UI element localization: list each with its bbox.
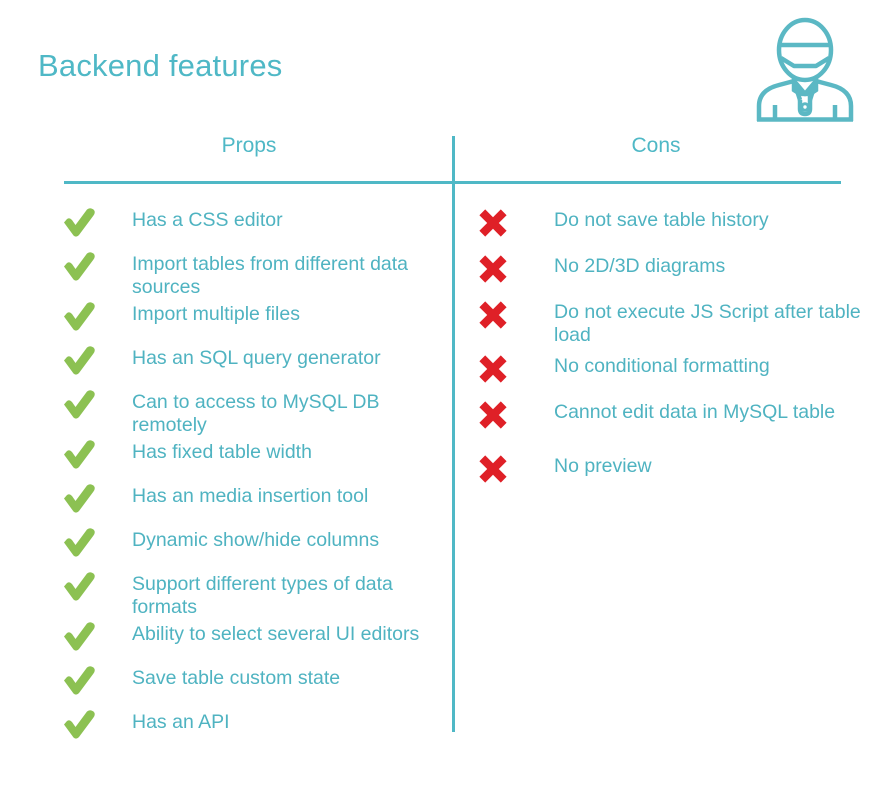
check-icon (62, 302, 96, 332)
check-icon (62, 250, 106, 282)
check-icon (62, 620, 106, 652)
cons-item-label: No 2D/3D diagrams (526, 252, 725, 278)
cons-item: No conditional formatting (478, 352, 878, 398)
check-icon (62, 300, 106, 332)
props-item: Has an media insertion tool (62, 482, 452, 526)
check-icon (62, 526, 106, 558)
column-header-cons: Cons (470, 134, 842, 158)
props-item: Has fixed table width (62, 438, 452, 482)
check-icon (62, 388, 106, 420)
props-item: Has an SQL query generator (62, 344, 452, 388)
props-item: Dynamic show/hide columns (62, 526, 452, 570)
check-icon (62, 390, 96, 420)
check-icon (62, 206, 106, 238)
cons-item-label: Do not save table history (526, 206, 769, 232)
props-item-label: Import multiple files (106, 300, 300, 326)
cons-item: No preview (478, 452, 878, 498)
cons-item: Do not execute JS Script after table loa… (478, 298, 878, 352)
props-item: Import multiple files (62, 300, 452, 344)
slide-canvas: Backend features Pro (0, 0, 892, 812)
props-item-label: Has fixed table width (106, 438, 312, 464)
page-title: Backend features (38, 48, 282, 84)
cross-icon (478, 354, 508, 384)
props-list: Has a CSS editorImport tables from diffe… (62, 206, 452, 752)
check-icon (62, 570, 106, 602)
props-item-label: Has an API (106, 708, 230, 734)
props-item: Ability to select several UI editors (62, 620, 452, 664)
check-icon (62, 482, 106, 514)
check-icon (62, 440, 96, 470)
cross-icon (478, 206, 526, 238)
cross-icon (478, 252, 526, 284)
props-item-label: Support different types of data formats (106, 570, 452, 619)
cross-icon (478, 208, 508, 238)
props-item: Has an API (62, 708, 452, 752)
props-item: Import tables from different data source… (62, 250, 452, 300)
props-item: Can to access to MySQL DB remotely (62, 388, 452, 438)
column-divider (452, 136, 455, 732)
cons-item-label: Do not execute JS Script after table loa… (526, 298, 878, 347)
check-icon (62, 708, 106, 740)
cons-item-label: Cannot edit data in MySQL table (526, 398, 835, 424)
props-item-label: Dynamic show/hide columns (106, 526, 379, 552)
check-icon (62, 664, 106, 696)
cons-item: Cannot edit data in MySQL table (478, 398, 878, 452)
check-icon (62, 666, 96, 696)
cross-icon (478, 254, 508, 284)
props-item-label: Can to access to MySQL DB remotely (106, 388, 452, 437)
cross-icon (478, 352, 526, 384)
check-icon (62, 438, 106, 470)
cross-icon (478, 298, 526, 330)
cons-item-label: No conditional formatting (526, 352, 770, 378)
cons-item-label: No preview (526, 452, 652, 478)
check-icon (62, 346, 96, 376)
cross-icon (478, 400, 508, 430)
cross-icon (478, 300, 508, 330)
cross-icon (478, 454, 508, 484)
props-item-label: Save table custom state (106, 664, 340, 690)
cross-icon (478, 452, 526, 484)
props-item: Has a CSS editor (62, 206, 452, 250)
check-icon (62, 622, 96, 652)
check-icon (62, 484, 96, 514)
props-item-label: Has an media insertion tool (106, 482, 368, 508)
props-item-label: Has an SQL query generator (106, 344, 381, 370)
column-header-props: Props (64, 134, 434, 158)
doctor-icon (753, 14, 857, 122)
check-icon (62, 572, 96, 602)
check-icon (62, 344, 106, 376)
cons-list: Do not save table historyNo 2D/3D diagra… (478, 206, 878, 498)
cons-item: No 2D/3D diagrams (478, 252, 878, 298)
check-icon (62, 710, 96, 740)
props-item: Save table custom state (62, 664, 452, 708)
props-item: Support different types of data formats (62, 570, 452, 620)
cross-icon (478, 398, 526, 430)
props-item-label: Has a CSS editor (106, 206, 283, 232)
check-icon (62, 252, 96, 282)
check-icon (62, 528, 96, 558)
props-item-label: Ability to select several UI editors (106, 620, 419, 646)
props-item-label: Import tables from different data source… (106, 250, 452, 299)
cons-item: Do not save table history (478, 206, 878, 252)
check-icon (62, 208, 96, 238)
